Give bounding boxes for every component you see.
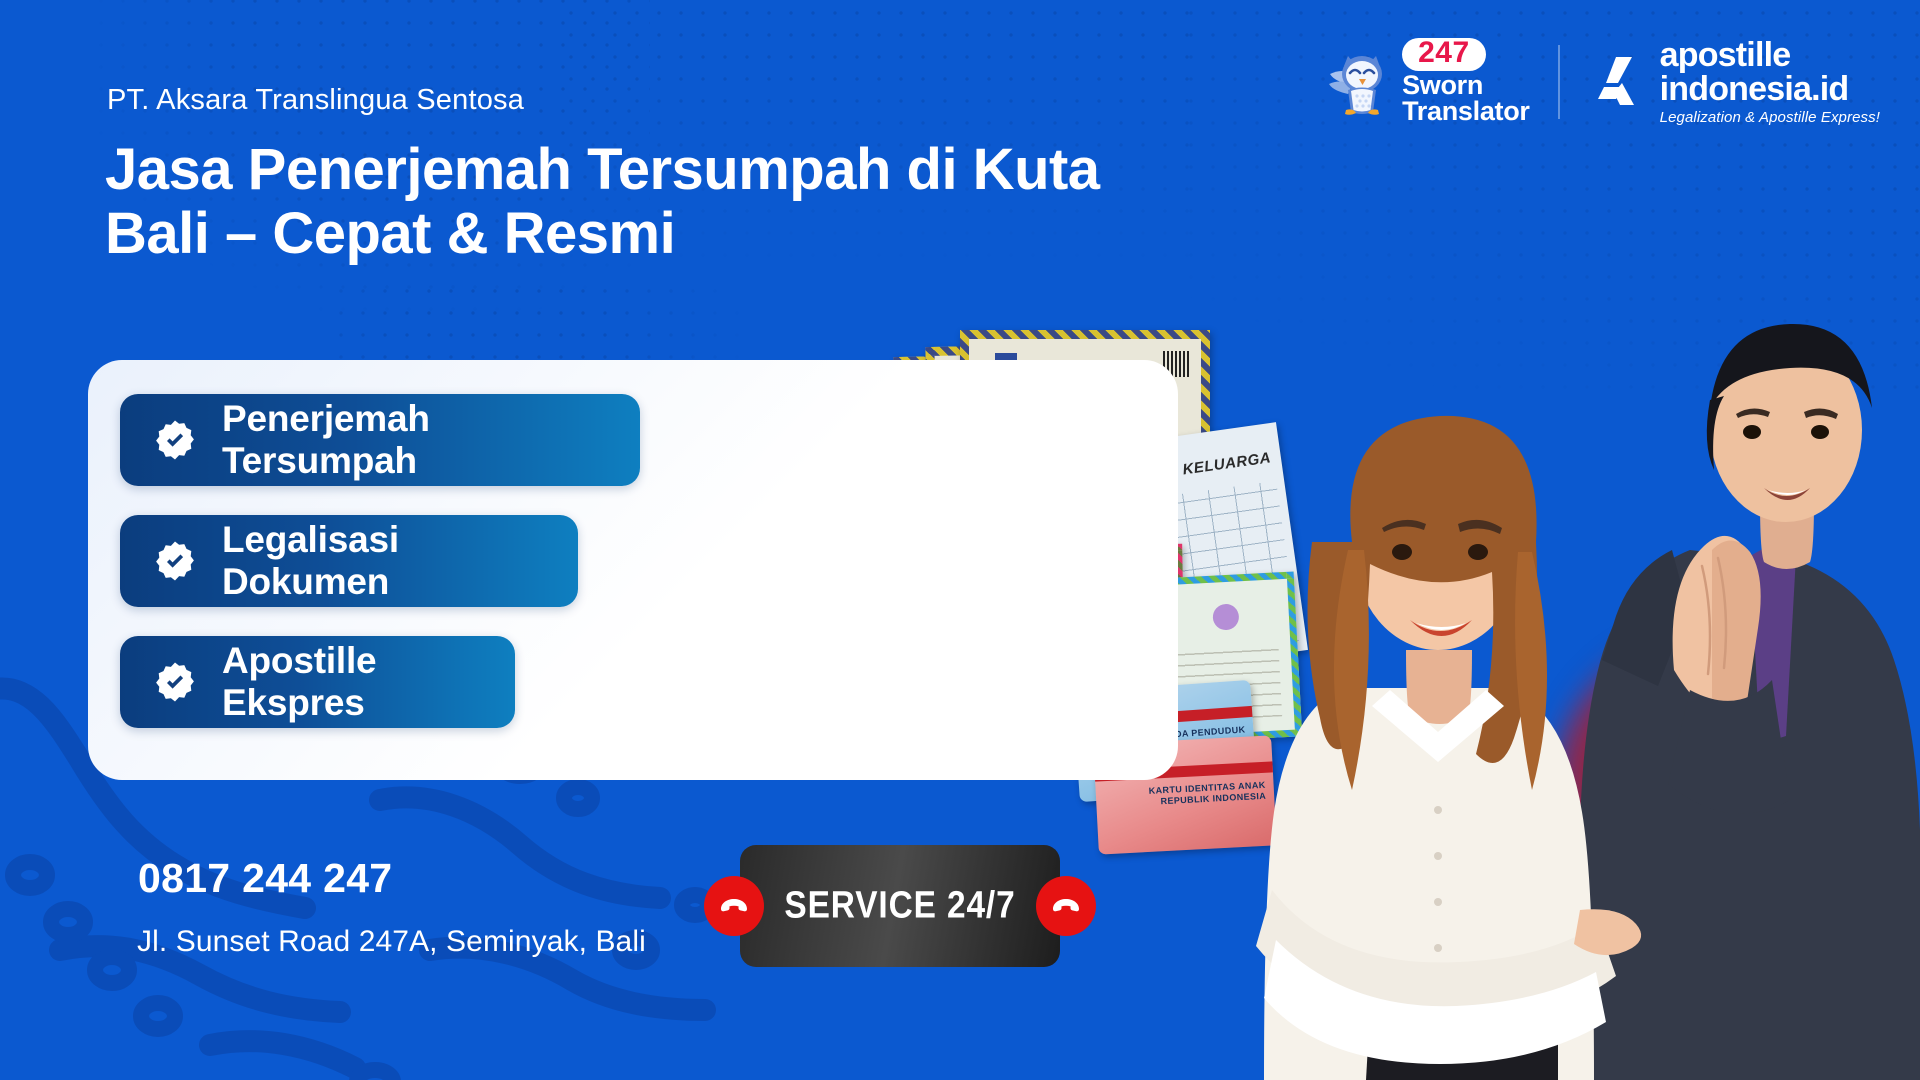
service-badge-label: SERVICE 24/7 <box>759 885 1041 928</box>
promo-banner: 247 Sworn Translator apostille indonesia… <box>0 0 1920 1080</box>
apostille-line-1: apostille <box>1660 38 1880 72</box>
badge-247: 247 <box>1402 38 1486 71</box>
logo-divider <box>1558 45 1560 119</box>
akta-text-lines <box>1176 641 1282 721</box>
logo-apostille-indonesia[interactable]: apostille indonesia.id Legalization & Ap… <box>1588 38 1880 125</box>
logo-247-sworn-translator[interactable]: 247 Sworn Translator <box>1326 38 1530 125</box>
service-24-7-badge[interactable]: SERVICE 24/7 <box>740 845 1060 967</box>
feature-card: Penerjemah Tersumpah Legalisasi Dokumen <box>88 360 1178 780</box>
logo-row: 247 Sworn Translator apostille indonesia… <box>1326 38 1880 125</box>
kia-line-1: KARTU IDENTITAS ANAK <box>1148 780 1265 796</box>
owl-mascot-icon <box>1326 44 1392 118</box>
contact-phone[interactable]: 0817 244 247 <box>138 855 392 902</box>
apostille-a-mark-icon <box>1588 53 1646 111</box>
apostille-tagline: Legalization & Apostille Express! <box>1660 110 1880 125</box>
kia-line-2: REPUBLIK INDONESIA <box>1160 791 1266 807</box>
staff-photo <box>1220 250 1920 1080</box>
badge-check-icon <box>154 419 196 461</box>
feature-label: Legalisasi Dokumen <box>222 519 532 603</box>
red-glow-accent <box>1550 630 1880 960</box>
phone-handset-icon <box>704 876 764 936</box>
akta-seal-icon <box>1212 603 1239 630</box>
feature-pill-legalisasi-dokumen[interactable]: Legalisasi Dokumen <box>120 515 578 607</box>
page-title: Jasa Penerjemah Tersumpah di Kuta Bali –… <box>105 138 1125 266</box>
feature-label: Penerjemah Tersumpah <box>222 398 594 482</box>
feature-pill-penerjemah-tersumpah[interactable]: Penerjemah Tersumpah <box>120 394 640 486</box>
contact-address: Jl. Sunset Road 247A, Seminyak, Bali <box>137 925 646 959</box>
sworn-line-2: Translator <box>1402 99 1530 125</box>
feature-pill-apostille-ekspres[interactable]: Apostille Ekspres <box>120 636 515 728</box>
phone-handset-icon <box>1036 876 1096 936</box>
apostille-line-2: indonesia.id <box>1660 72 1880 106</box>
badge-check-icon <box>154 661 196 703</box>
feature-list: Penerjemah Tersumpah Legalisasi Dokumen <box>120 394 640 728</box>
feature-label: Apostille Ekspres <box>222 640 469 724</box>
sworn-line-1: Sworn <box>1402 73 1530 99</box>
badge-check-icon <box>154 540 196 582</box>
company-name: PT. Aksara Translingua Sentosa <box>107 84 524 117</box>
